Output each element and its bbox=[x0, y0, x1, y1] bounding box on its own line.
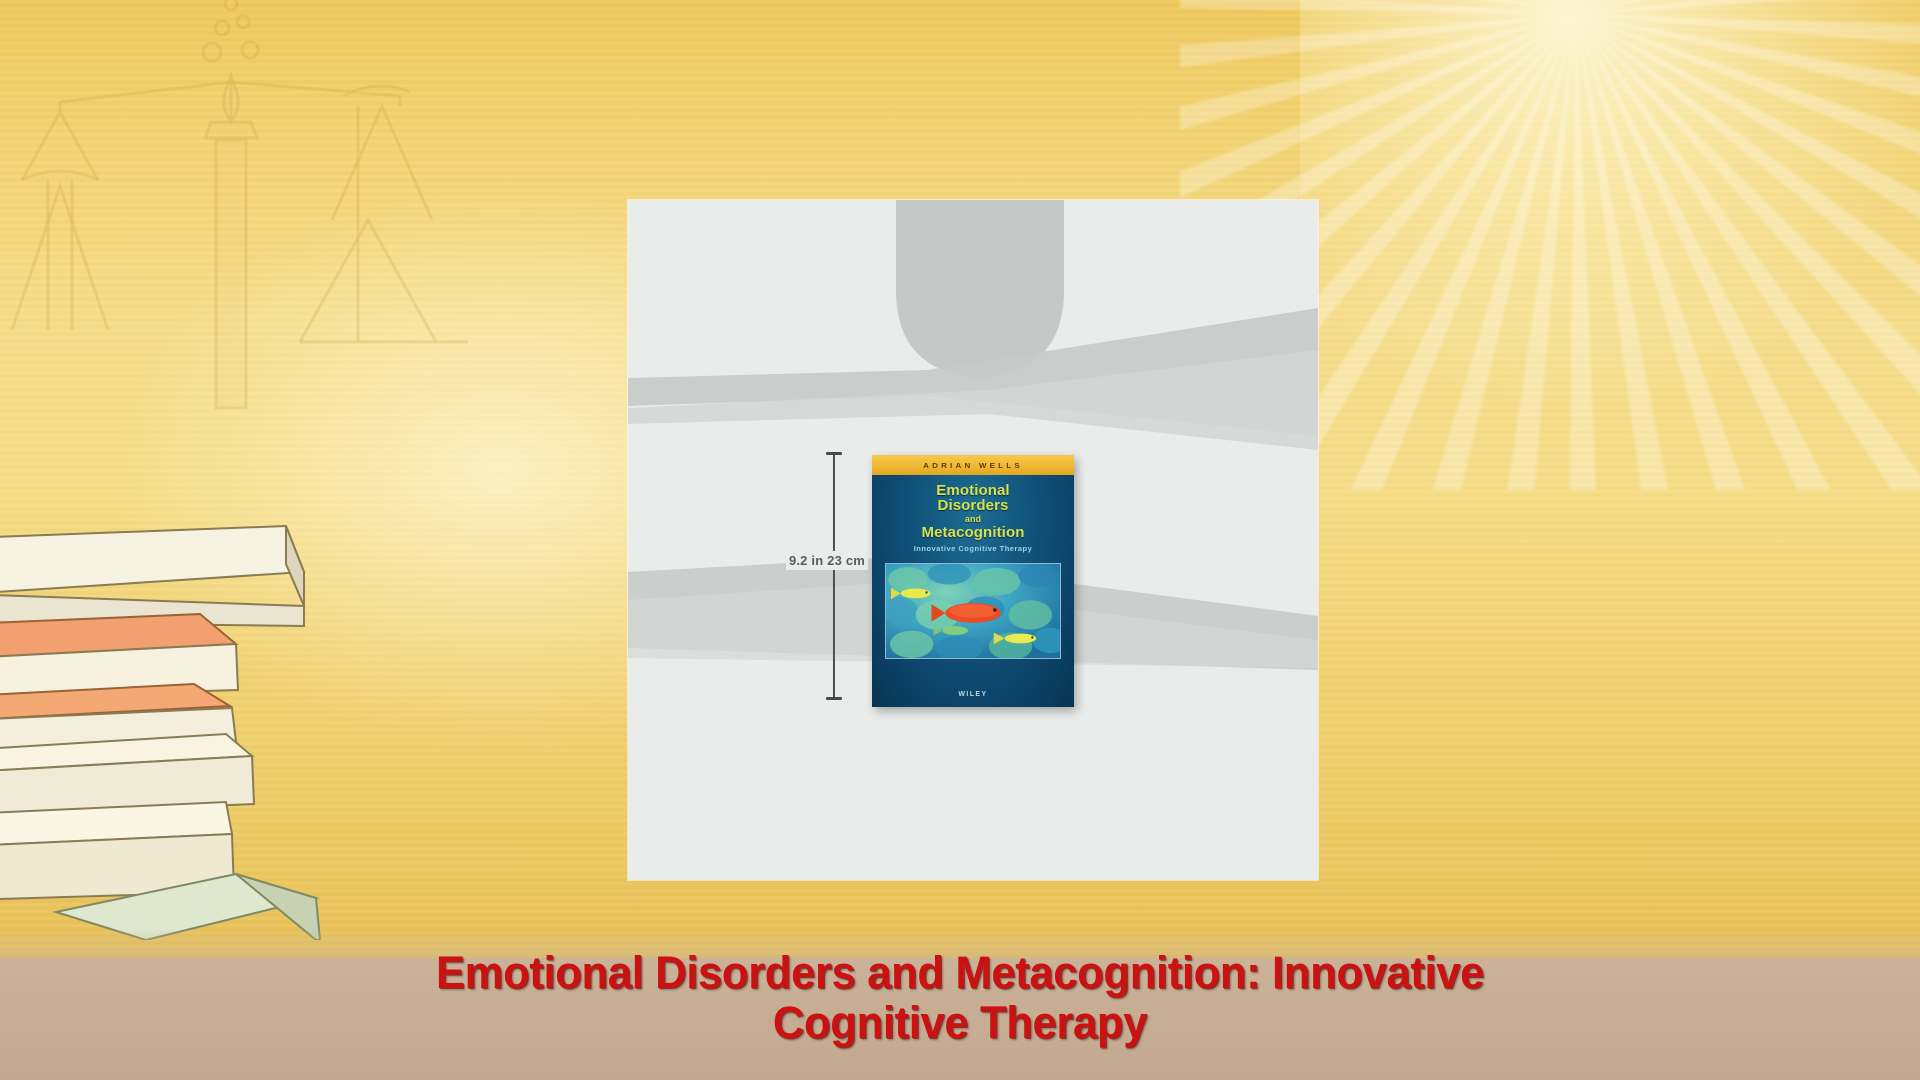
tropical-fish-artwork-icon bbox=[885, 563, 1061, 659]
vertical-dimension-ruler-icon bbox=[826, 452, 842, 700]
dimension-rod bbox=[833, 454, 835, 698]
page-title: Emotional Disorders and Metacognition: I… bbox=[29, 948, 1891, 1048]
book-stack-icon bbox=[0, 520, 416, 940]
dimension-cap-bottom bbox=[826, 697, 842, 700]
cover-author-band: ADRIAN WELLS bbox=[872, 455, 1074, 475]
cover-publisher: WILEY bbox=[872, 691, 1074, 698]
dimension-label: 9.2 in 23 cm bbox=[786, 551, 868, 570]
cover-title-conjunction: and bbox=[882, 514, 1064, 524]
page-root: 9.2 in 23 cm ADRIAN WELLS Emotional Diso… bbox=[0, 0, 1920, 1080]
cover-subtitle: Innovative Cognitive Therapy bbox=[882, 544, 1064, 553]
cover-title-line-2: Disorders bbox=[938, 497, 1009, 514]
cover-title-line-3: Metacognition bbox=[922, 524, 1025, 541]
scales-of-justice-icon bbox=[0, 0, 520, 410]
cover-author-name: ADRIAN WELLS bbox=[923, 461, 1023, 469]
book-cover-image[interactable]: ADRIAN WELLS Emotional Disorders and Met… bbox=[872, 455, 1074, 707]
cover-title: Emotional Disorders and Metacognition bbox=[882, 483, 1064, 540]
